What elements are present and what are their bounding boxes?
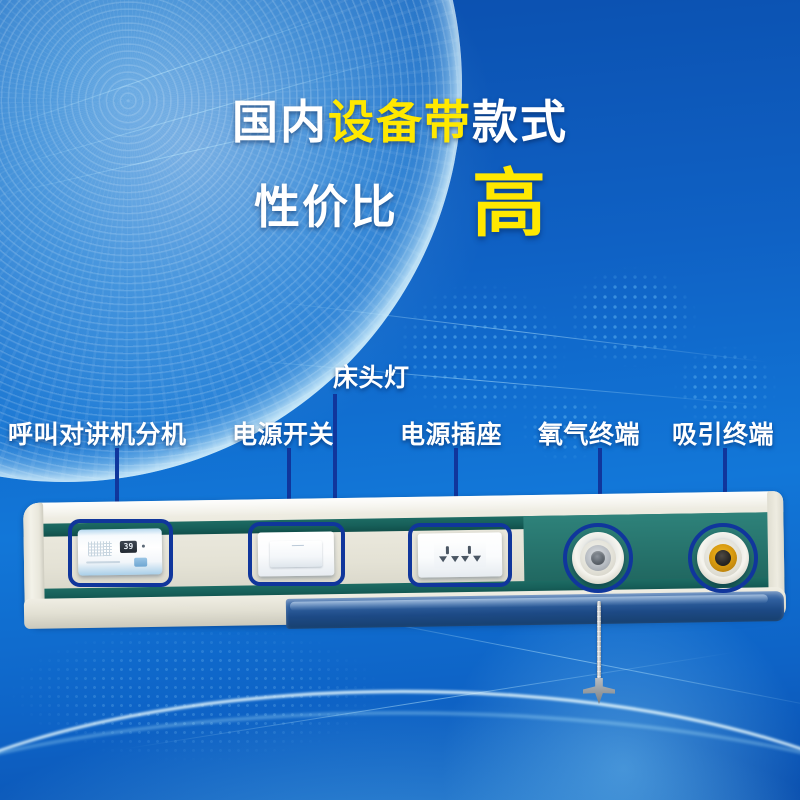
title-segment-1: 国内 <box>232 96 328 148</box>
callout-label-power-switch: 电源开关 <box>232 415 334 451</box>
highlight-box-intercom <box>68 519 173 587</box>
page-title: 国内设备带款式 <box>0 86 800 152</box>
subtitle: 性价比高 <box>0 168 800 239</box>
callout-label-bed-lamp: 床头灯 <box>333 358 410 394</box>
subtitle-text: 性价比 <box>254 171 398 237</box>
title-segment-2-highlight: 设备带 <box>328 96 472 148</box>
subtitle-accent-word: 高 <box>472 168 546 239</box>
poster-canvas: 国内设备带款式 性价比高 呼叫对讲机分机 电源开关 床头灯 电源插座 氧气终端 … <box>0 0 800 800</box>
title-segment-3: 款式 <box>472 96 568 148</box>
lamp-sheen <box>290 594 768 611</box>
callout-label-power-socket: 电源插座 <box>400 415 502 451</box>
callout-label-suction: 吸引终端 <box>672 415 774 451</box>
highlight-circle-oxygen <box>563 523 633 593</box>
highlight-circle-suction <box>688 523 758 593</box>
pull-cord-tube[interactable] <box>597 601 601 685</box>
callout-label-intercom: 呼叫对讲机分机 <box>8 415 187 451</box>
highlight-box-power-socket <box>408 523 512 587</box>
callout-label-oxygen: 氧气终端 <box>538 415 640 451</box>
cord-segments <box>597 601 601 685</box>
highlight-box-power-switch <box>248 522 345 586</box>
